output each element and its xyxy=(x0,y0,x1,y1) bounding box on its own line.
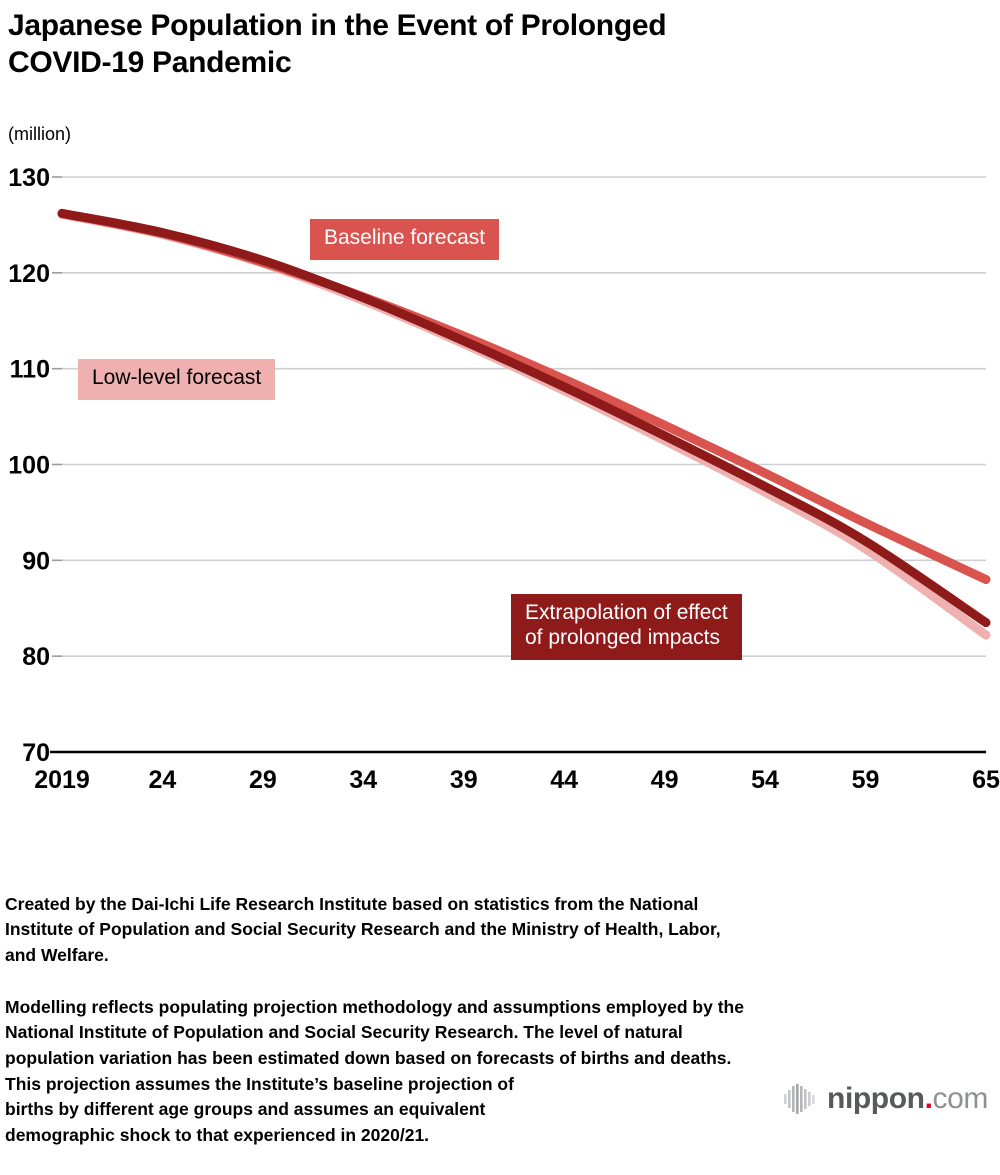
x-tick-label: 29 xyxy=(249,766,277,794)
x-tick-label: 24 xyxy=(149,766,177,794)
x-axis-tick-labels: 2019242934394449545965 xyxy=(34,766,1000,794)
y-tick-label: 90 xyxy=(22,547,50,575)
callout-extrapolation: Extrapolation of effect of prolonged imp… xyxy=(511,594,742,660)
x-tick-label: 54 xyxy=(751,766,779,794)
x-tick-label: 59 xyxy=(852,766,880,794)
y-tick-label: 100 xyxy=(8,452,50,480)
x-tick-label: 34 xyxy=(349,766,377,794)
gridlines-group xyxy=(52,177,986,752)
logo-wordmark: nippon.com xyxy=(827,1084,988,1114)
logo-bars-icon xyxy=(784,1084,818,1114)
y-tick-label: 70 xyxy=(22,739,50,767)
y-tick-label: 120 xyxy=(8,260,50,288)
footnotes: Created by the Dai-Ichi Life Research In… xyxy=(5,866,990,1175)
page-title: Japanese Population in the Event of Prol… xyxy=(8,8,968,81)
y-axis-tick-labels: 708090100110120130 xyxy=(8,164,50,767)
logo-tld: com xyxy=(933,1082,988,1115)
logo-dot: . xyxy=(925,1082,933,1115)
x-tick-label: 2019 xyxy=(34,766,90,794)
y-tick-label: 110 xyxy=(10,356,50,384)
nippon-com-logo[interactable]: nippon.com xyxy=(784,1084,988,1114)
y-tick-label: 80 xyxy=(22,643,50,671)
callout-baseline-forecast: Baseline forecast xyxy=(310,219,499,260)
y-tick-label: 130 xyxy=(8,164,50,192)
series-line xyxy=(62,214,986,635)
chart-page: Japanese Population in the Event of Prol… xyxy=(0,0,1000,1126)
logo-name: nippon xyxy=(827,1082,925,1115)
series-line xyxy=(62,213,986,622)
x-tick-label: 65 xyxy=(972,766,1000,794)
series-lines-group xyxy=(62,213,986,635)
callout-low-level-forecast: Low-level forecast xyxy=(78,359,275,400)
chart-plot-area: 708090100110120130 201924293439444954596… xyxy=(0,150,1000,810)
y-axis-unit-label: (million) xyxy=(8,124,71,145)
x-tick-label: 49 xyxy=(651,766,679,794)
x-tick-label: 44 xyxy=(550,766,578,794)
x-tick-label: 39 xyxy=(450,766,478,794)
population-line-chart: 708090100110120130 201924293439444954596… xyxy=(0,150,1000,810)
footnote-source: Created by the Dai-Ichi Life Research In… xyxy=(5,892,990,969)
